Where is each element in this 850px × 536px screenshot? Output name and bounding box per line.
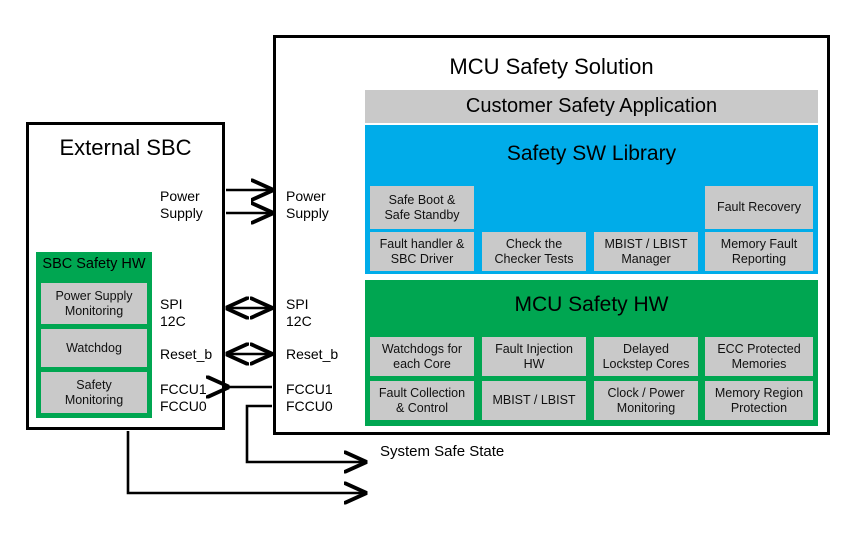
connector-wires — [0, 0, 850, 536]
diagram-canvas: MCU Safety Solution Customer Safety Appl… — [0, 0, 850, 536]
wire-fccu0-system-safe-state — [247, 406, 365, 462]
